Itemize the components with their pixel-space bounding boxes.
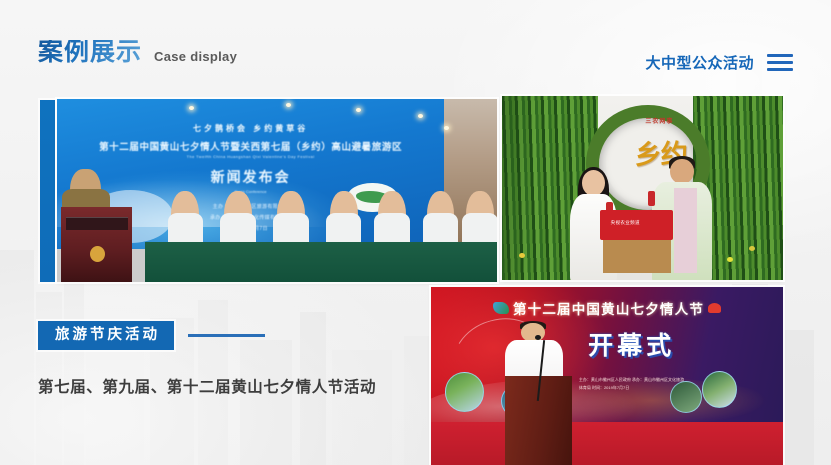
panelist bbox=[171, 191, 199, 242]
head bbox=[582, 170, 605, 196]
microphone-head bbox=[535, 335, 541, 340]
backdrop-line-2: 新闻发布会 bbox=[57, 167, 444, 187]
badge-row: 旅游节庆活动 bbox=[38, 321, 376, 350]
flower bbox=[749, 246, 755, 251]
microphone bbox=[648, 191, 655, 206]
backdrop-line-1: 第十二届中国黄山七夕情人节暨关西第七届（乡约）高山避暑旅游区 bbox=[57, 139, 444, 153]
section-nav[interactable]: 大中型公众活动 bbox=[645, 52, 793, 73]
floral-vest bbox=[674, 188, 697, 273]
ceiling-light bbox=[418, 114, 423, 118]
wreath-top-text: 三农网事 bbox=[626, 116, 693, 125]
head bbox=[521, 323, 545, 342]
case-display-slide: 案例展示 Case display 大中型公众活动 七夕鹊桥会 乡约黄草谷 bbox=[0, 0, 831, 465]
backdrop-title-row: 第十二届中国黄山七夕情人节 bbox=[459, 298, 755, 318]
panelist bbox=[466, 191, 494, 242]
opening-ceremony-photo[interactable]: 第十二届中国黄山七夕情人节 开幕式 主办：黄山市徽州区人民政府 承办：黄山市徽州… bbox=[431, 287, 783, 465]
hamburger-menu-icon[interactable] bbox=[767, 54, 793, 71]
festival-logo-icon bbox=[493, 302, 509, 314]
status-badge: 旅游节庆活动 bbox=[38, 321, 174, 350]
stage-floor bbox=[431, 422, 783, 465]
panelist bbox=[427, 191, 455, 242]
podium-emblem bbox=[90, 246, 105, 263]
podium bbox=[61, 207, 131, 282]
scenery-bubble bbox=[445, 372, 484, 411]
section-nav-label: 大中型公众活动 bbox=[645, 52, 754, 73]
backdrop-small-text: 主办：黄山市徽州区人民政府 承办：黄山市徽州区文化旅游体育局 时间：2019年7… bbox=[579, 376, 685, 391]
panelist bbox=[330, 191, 358, 242]
flower bbox=[727, 257, 733, 262]
ceiling-light bbox=[286, 103, 291, 107]
mountain-logo-icon bbox=[708, 303, 721, 313]
panelist bbox=[224, 191, 252, 242]
table-sign: 央视农业频道 bbox=[600, 210, 673, 239]
page-title-en: Case display bbox=[154, 50, 237, 65]
backdrop-title: 第十二届中国黄山七夕情人节 bbox=[513, 298, 704, 318]
table-sign-text: 央视农业频道 bbox=[611, 220, 640, 226]
scenery-bubble bbox=[702, 371, 737, 408]
badge-divider-line bbox=[188, 334, 265, 337]
hamburger-bar bbox=[767, 68, 793, 71]
willow-stage-interview-photo[interactable]: 三农网事 乡约 央视农业频道 bbox=[502, 96, 783, 280]
podium-nameplate bbox=[66, 217, 128, 230]
backdrop-logo-text: 七夕鹊桥会 乡约黄草谷 bbox=[57, 123, 444, 134]
caption-block: 旅游节庆活动 第七届、第九届、第十二届黄山七夕情人节活动 bbox=[38, 321, 376, 397]
press-conference-photo[interactable]: 七夕鹊桥会 乡约黄草谷 第十二届中国黄山七夕情人节暨关西第七届（乡约）高山避暑旅… bbox=[57, 99, 497, 282]
panelist bbox=[277, 191, 305, 242]
page-title-cn: 案例展示 bbox=[38, 40, 142, 65]
slide-header: 案例展示 Case display 大中型公众活动 bbox=[0, 0, 831, 92]
backdrop-line-1-sub: The Twelfth China Huangshan Qixi Valenti… bbox=[57, 154, 444, 159]
head bbox=[670, 159, 694, 185]
wooden-table bbox=[603, 236, 670, 273]
flower bbox=[519, 253, 525, 258]
hamburger-bar bbox=[767, 61, 793, 64]
hamburger-bar bbox=[767, 54, 793, 57]
panelist bbox=[378, 191, 406, 242]
accent-bar bbox=[40, 100, 55, 282]
panel-table bbox=[145, 242, 497, 282]
backdrop-subtitle: 开幕式 bbox=[558, 326, 706, 362]
caption-description: 第七届、第九届、第十二届黄山七夕情人节活动 bbox=[38, 375, 376, 397]
page-title: 案例展示 Case display bbox=[38, 40, 237, 65]
